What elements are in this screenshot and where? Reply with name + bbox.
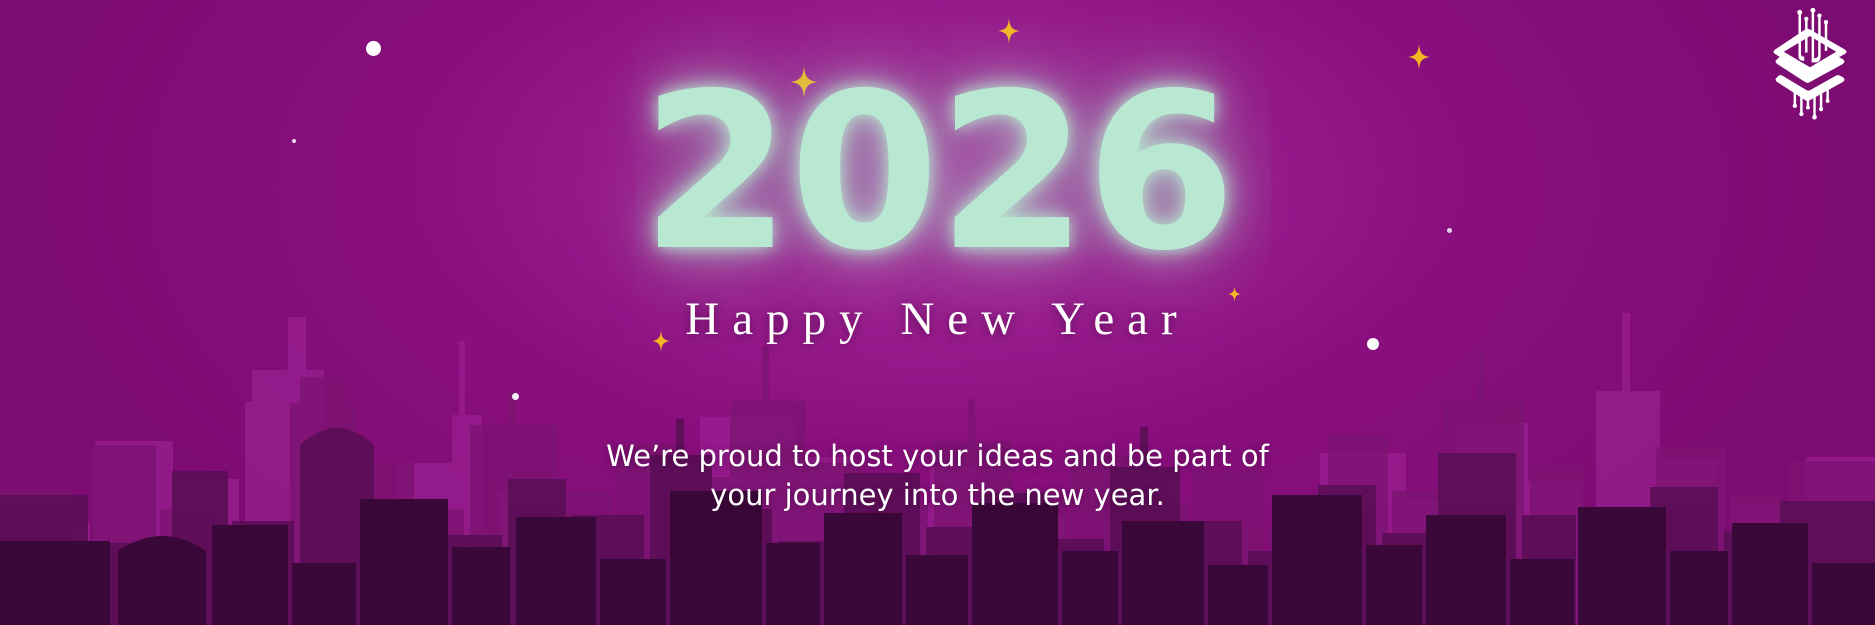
headline-container: Happy New Year <box>0 292 1875 346</box>
year-container: 2026 <box>0 74 1875 273</box>
happy-new-year-headline: Happy New Year <box>685 293 1189 345</box>
stacked-layers-circuit-icon <box>1769 8 1851 120</box>
star-top-center-icon <box>998 18 1020 44</box>
tagline-container: We’re proud to host your ideas and be pa… <box>0 437 1875 514</box>
dot-upper-left <box>366 41 381 56</box>
stacked-layers-circuit-logo[interactable] <box>1769 8 1851 120</box>
new-year-banner: 2026 Happy New Year We’re proud to host … <box>0 0 1875 625</box>
star-inside-six-icon <box>1228 286 1241 302</box>
tagline-text: We’re proud to host your ideas and be pa… <box>420 437 1455 514</box>
dot-small-left <box>512 393 519 400</box>
star-top-right-icon <box>1408 44 1430 70</box>
year-headline: 2026 <box>641 74 1234 273</box>
